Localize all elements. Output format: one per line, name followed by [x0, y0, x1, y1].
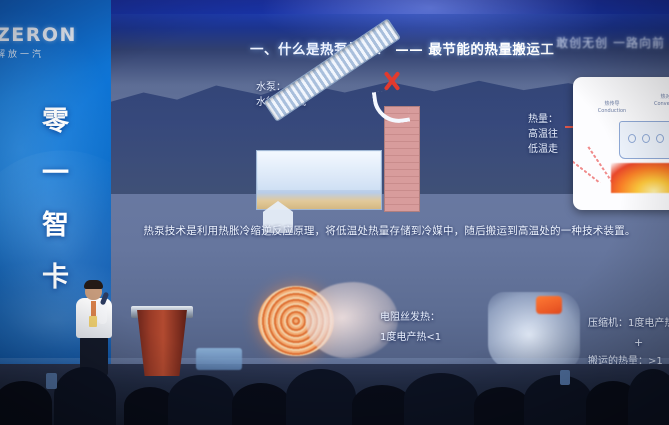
audience-silhouette — [474, 387, 530, 425]
brand-logo: ZERON 解放一汽 — [0, 24, 106, 60]
convection-label-en: Convection — [645, 101, 669, 108]
audience-silhouette — [286, 369, 356, 425]
slide-calligraphy-slogan: 敢创无创 一路向前 — [556, 34, 665, 51]
confidence-monitor — [196, 348, 242, 370]
presenter-figure — [72, 282, 118, 374]
audience-silhouette — [0, 381, 52, 425]
resistance-heating-label: 电阻丝发热： 1度电产热<1 — [380, 308, 441, 348]
red-cross-mark-icon — [381, 70, 403, 92]
resistance-heating-line1: 电阻丝发热： — [380, 308, 441, 328]
banner-char-3: 智 — [0, 200, 111, 252]
audience-phone — [46, 373, 57, 389]
heat-flow-label-line2: 高温往 — [528, 127, 558, 142]
heat-flow-label-line3: 低温走 — [528, 142, 558, 157]
brand-logo-sub: 解放一汽 — [0, 47, 106, 60]
heat-flow-label: 热量： 高温往 低温走 — [528, 112, 558, 157]
conduction-label-en: Conduction — [591, 108, 633, 115]
water-spout — [372, 88, 410, 126]
audience-silhouette — [168, 375, 234, 425]
presenter-hair — [84, 280, 103, 289]
audience-silhouette — [628, 369, 669, 425]
presenter-badge — [89, 316, 97, 327]
presentation-slide: 一、什么是热泵技术？ —— 最节能的热量搬运工 敢创无创 一路向前 水泵： 水往… — [110, 14, 669, 369]
audience-silhouette — [54, 367, 116, 425]
boiling-pot-icon — [619, 121, 669, 159]
archimedes-screw-illustration — [256, 118, 416, 213]
pot-bubble — [628, 134, 636, 143]
tank-water — [258, 152, 380, 190]
heat-flow-label-line1: 热量： — [528, 112, 558, 127]
audience-silhouette — [232, 383, 290, 425]
banner-vertical-title: 零 一 智 卡 — [0, 96, 111, 304]
heat-pump-definition-text: 热泵技术是利用热胀冷缩逆反应原理，将低温处热量存储到冷媒中，随后搬运到高温处的一… — [110, 223, 669, 238]
convection-label-cn: 热对流 — [645, 94, 669, 101]
pot-bubble — [656, 134, 664, 143]
compressor-line1: 压缩机：1度电产热<1 — [588, 314, 669, 333]
audience-phone — [560, 370, 570, 385]
convection-label: 热对流 Convection — [645, 94, 669, 108]
pot-bubble — [642, 134, 650, 143]
plus-sign: + — [588, 333, 669, 352]
audience-silhouette — [352, 385, 412, 425]
banner-char-1: 零 — [0, 96, 111, 148]
conduction-label-cn: 热传导 — [591, 101, 633, 108]
heat-transfer-diagram-card: 热传导 Conduction 热对流 Convection 热辐射 Radiat… — [573, 77, 669, 210]
slide-title-part2: 最节能的热量搬运工 — [428, 42, 554, 58]
flame-icon — [611, 163, 669, 193]
slide-title-dash: —— — [395, 42, 423, 58]
audience-silhouette — [404, 373, 478, 425]
audience-silhouette — [524, 375, 592, 425]
slide-title: 一、什么是热泵技术？ —— 最节能的热量搬运工 — [250, 38, 554, 58]
banner-char-2: 一 — [0, 148, 111, 200]
brand-logo-main: ZERON — [0, 24, 106, 46]
water-tank — [256, 150, 382, 210]
screenshot-root: 一、什么是热泵技术？ —— 最节能的热量搬运工 敢创无创 一路向前 水泵： 水往… — [0, 0, 669, 425]
resistance-heating-line2: 1度电产热<1 — [380, 328, 441, 348]
conduction-label: 热传导 Conduction — [591, 101, 633, 115]
